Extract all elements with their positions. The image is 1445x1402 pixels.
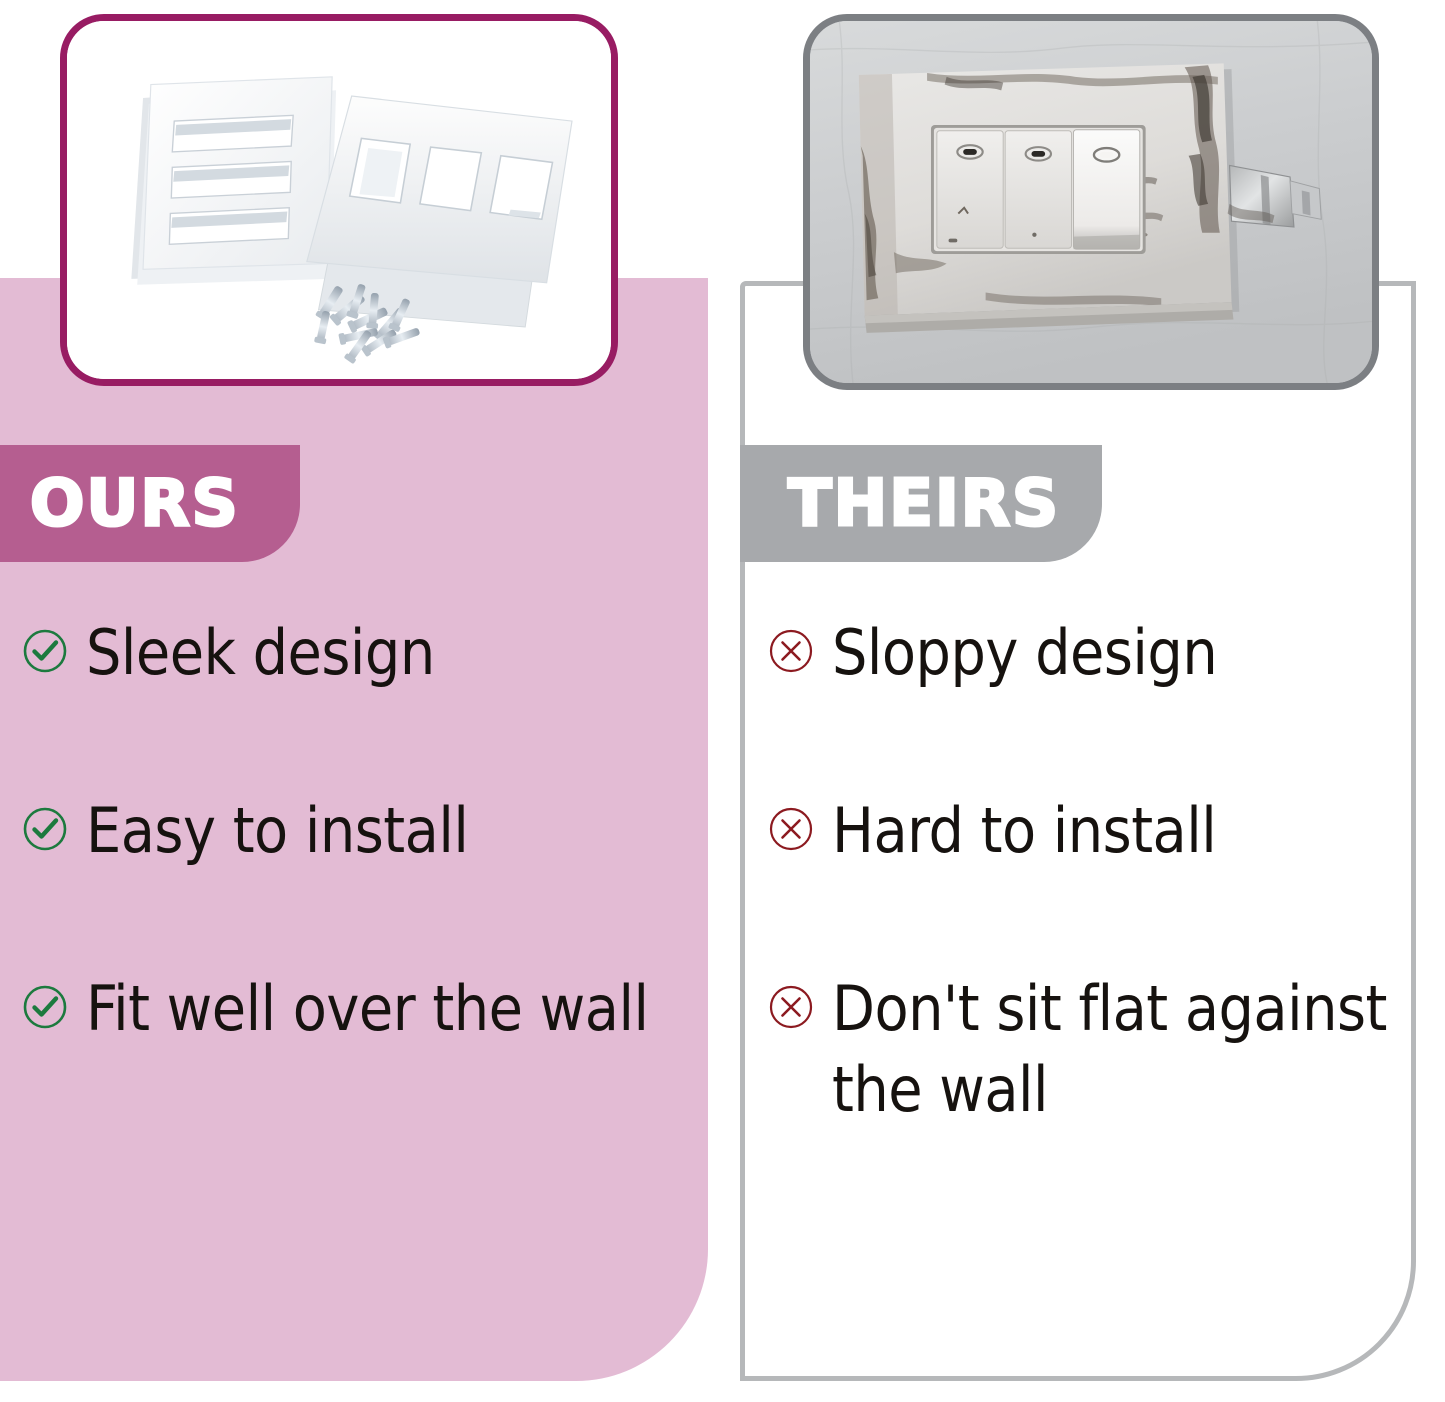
list-item-label: Don't sit flat against the wall <box>832 968 1388 1132</box>
list-item: Sloppy design <box>768 612 1388 694</box>
dirty-worn-wall-switch-plate-image <box>810 21 1372 383</box>
cross-circle-icon <box>768 628 814 674</box>
list-item: Sleek design <box>22 612 682 694</box>
check-circle-icon <box>22 806 68 852</box>
list-item: Don't sit flat against the wall <box>768 968 1388 1132</box>
cross-circle-icon <box>768 984 814 1030</box>
ours-feature-list: Sleek design Easy to install Fit well ov… <box>22 612 682 1145</box>
ours-banner: OURS <box>0 445 300 562</box>
theirs-banner-label: THEIRS <box>788 472 1060 536</box>
list-item: Fit well over the wall <box>22 968 682 1050</box>
theirs-banner: THEIRS <box>740 445 1102 562</box>
list-item: Easy to install <box>22 790 682 872</box>
cross-circle-icon <box>768 806 814 852</box>
check-circle-icon <box>22 628 68 674</box>
list-item-label: Easy to install <box>86 790 468 872</box>
list-item: Hard to install <box>768 790 1388 872</box>
theirs-product-image-card <box>803 14 1379 390</box>
white-modular-switch-plates-image <box>67 21 611 379</box>
list-item-label: Sleek design <box>86 612 435 694</box>
list-item-label: Fit well over the wall <box>86 968 648 1050</box>
list-item-label: Sloppy design <box>832 612 1217 694</box>
ours-banner-label: OURS <box>30 472 240 536</box>
ours-product-image-card <box>60 14 618 386</box>
theirs-feature-list: Sloppy design Hard to install Don't sit … <box>768 612 1388 1227</box>
list-item-label: Hard to install <box>832 790 1216 872</box>
check-circle-icon <box>22 984 68 1030</box>
